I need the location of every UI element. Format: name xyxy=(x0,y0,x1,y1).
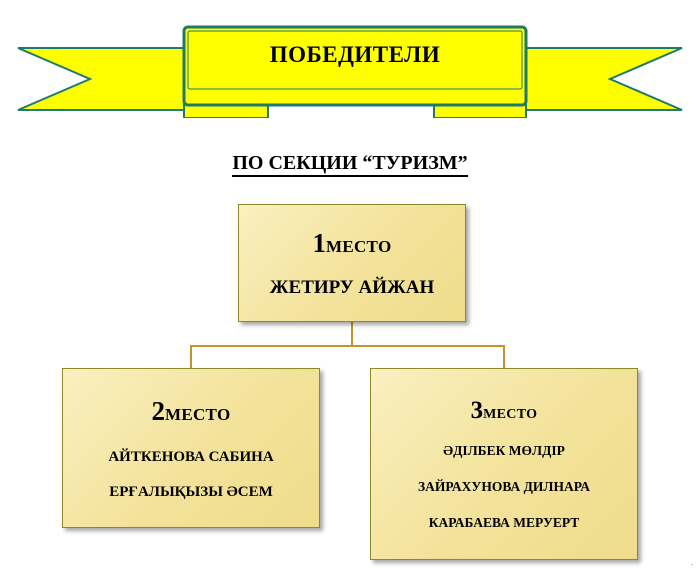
first-place-line: 1МЕСТО xyxy=(313,228,392,259)
ribbon-left-wing xyxy=(18,48,184,110)
ribbon-right-wing xyxy=(526,48,682,110)
node-second-place: 2МЕСТО АЙТКЕНОВА САБИНА ЕРҒАЛЫҚЫЗЫ ӘСЕМ xyxy=(62,368,320,528)
section-heading: ПО СЕКЦИИ “ТУРИЗМ” xyxy=(0,152,700,175)
first-place-number: 1 xyxy=(313,228,327,258)
section-heading-text: ПО СЕКЦИИ “ТУРИЗМ” xyxy=(232,152,467,177)
second-place-word: МЕСТО xyxy=(165,405,231,424)
node-first-place: 1МЕСТО ЖЕТИРУ АЙЖАН xyxy=(238,204,466,322)
first-place-name-1: ЖЕТИРУ АЙЖАН xyxy=(270,277,435,299)
second-place-name-2: ЕРҒАЛЫҚЫЗЫ ӘСЕМ xyxy=(109,484,273,501)
first-place-word: МЕСТО xyxy=(326,237,392,256)
second-place-name-1: АЙТКЕНОВА САБИНА xyxy=(108,449,273,466)
second-place-number: 2 xyxy=(152,396,166,426)
second-place-line: 2МЕСТО xyxy=(152,396,231,427)
third-place-name-3: КАРАБАЕВА МЕРУЕРТ xyxy=(429,515,580,531)
third-place-number: 3 xyxy=(471,397,484,424)
banner-title: ПОБЕДИТЕЛИ xyxy=(184,28,526,82)
third-place-line: 3МЕСТО xyxy=(471,397,538,425)
node-third-place: 3МЕСТО ӘДІЛБЕК МӨЛДІР ЗАЙРАХУНОВА ДИЛНАР… xyxy=(370,368,638,560)
third-place-name-2: ЗАЙРАХУНОВА ДИЛНАРА xyxy=(418,479,590,495)
footer-mark: . xyxy=(691,558,693,567)
third-place-name-1: ӘДІЛБЕК МӨЛДІР xyxy=(443,443,565,459)
connector-branch xyxy=(191,346,504,368)
third-place-word: МЕСТО xyxy=(483,407,537,422)
